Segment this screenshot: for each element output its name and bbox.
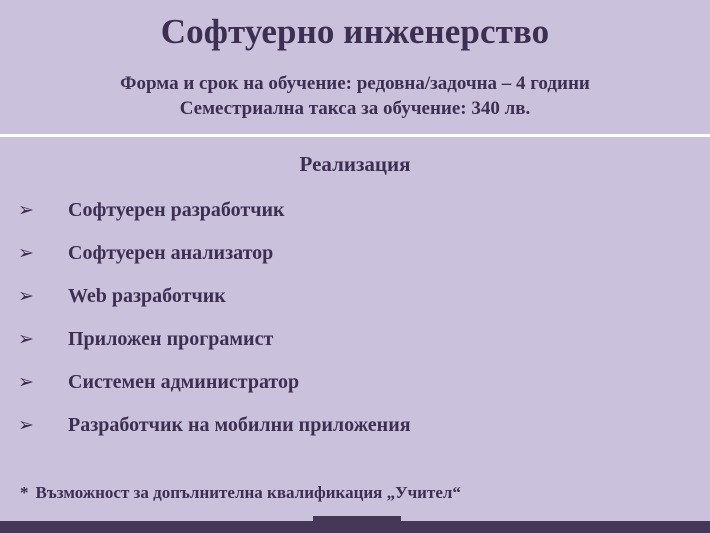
arrow-bullet-icon: ➢ bbox=[18, 287, 68, 306]
arrow-bullet-icon: ➢ bbox=[18, 373, 68, 392]
arrow-bullet-icon: ➢ bbox=[18, 416, 68, 435]
slide-header: Софтуерно инженерство Форма и срок на об… bbox=[0, 0, 710, 134]
list-item: ➢ Софтуерен анализатор bbox=[0, 243, 710, 286]
arrow-bullet-icon: ➢ bbox=[18, 244, 68, 263]
list-item: ➢ Разработчик на мобилни приложения bbox=[0, 415, 710, 458]
arrow-bullet-icon: ➢ bbox=[18, 201, 68, 220]
footnote-label: Възможност за допълнителна квалификация … bbox=[36, 483, 461, 502]
subtitle-group: Форма и срок на обучение: редовна/задочн… bbox=[0, 71, 710, 122]
subtitle-line-study-form: Форма и срок на обучение: редовна/задочн… bbox=[0, 71, 710, 96]
footnote-asterisk-icon: * bbox=[20, 483, 29, 503]
list-item-label: Разработчик на мобилни приложения bbox=[68, 415, 411, 435]
bottom-accent-bar-tab bbox=[313, 516, 401, 533]
list-item-label: Софтуерен анализатор bbox=[68, 243, 273, 263]
career-outcomes-list: ➢ Софтуерен разработчик ➢ Софтуерен анал… bbox=[0, 200, 710, 458]
list-item-label: Софтуерен разработчик bbox=[68, 200, 285, 220]
list-item: ➢ Системен администратор bbox=[0, 372, 710, 415]
list-item-label: Системен администратор bbox=[68, 372, 299, 392]
section-heading-career-outcomes: Реализация bbox=[0, 152, 710, 177]
arrow-bullet-icon: ➢ bbox=[18, 330, 68, 349]
list-item-label: Web разработчик bbox=[68, 286, 226, 306]
header-divider bbox=[0, 134, 710, 137]
list-item: ➢ Приложен програмист bbox=[0, 329, 710, 372]
presentation-slide: Софтуерно инженерство Форма и срок на об… bbox=[0, 0, 710, 533]
footnote: *Възможност за допълнителна квалификация… bbox=[20, 483, 700, 503]
list-item-label: Приложен програмист bbox=[68, 329, 273, 349]
subtitle-line-tuition-fee: Семестриална такса за обучение: 340 лв. bbox=[0, 96, 710, 121]
page-title: Софтуерно инженерство bbox=[0, 14, 710, 51]
list-item: ➢ Софтуерен разработчик bbox=[0, 200, 710, 243]
list-item: ➢ Web разработчик bbox=[0, 286, 710, 329]
